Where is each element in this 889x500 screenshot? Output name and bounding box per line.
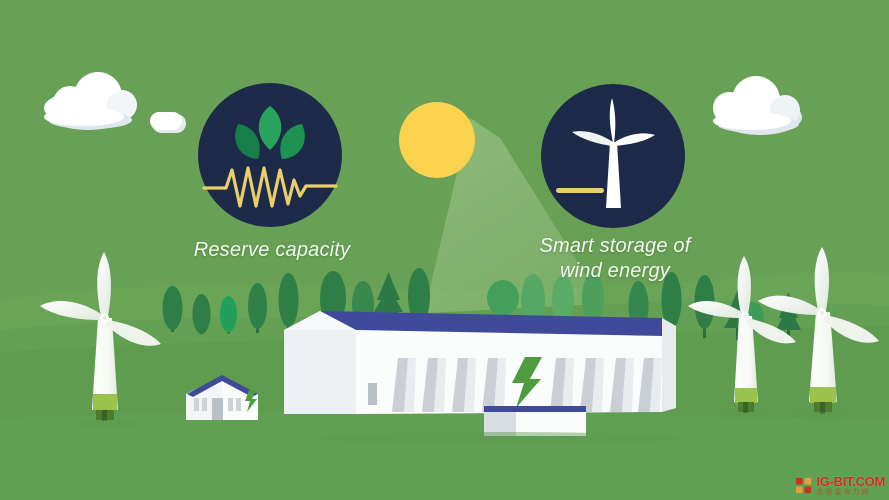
watermark-logo-icon — [795, 476, 814, 495]
cloud-left-small — [150, 112, 186, 133]
watermark-text: IG-BIT.COM 北极星电力网 — [817, 475, 886, 496]
reserve-capacity-badge[interactable] — [198, 83, 342, 227]
watermark-title: IG-BIT.COM — [817, 475, 886, 488]
ig-bit-watermark: IG-BIT.COM 北极星电力网 — [795, 475, 886, 496]
watermark-subtitle: 北极星电力网 — [817, 489, 886, 496]
smart-storage-badge[interactable] — [541, 84, 685, 228]
charge-bar-icon — [556, 188, 604, 193]
landscape-layer — [0, 0, 889, 500]
illustration-canvas: Reserve capacity Smart storage of wind e… — [0, 0, 889, 500]
sun — [399, 102, 475, 178]
